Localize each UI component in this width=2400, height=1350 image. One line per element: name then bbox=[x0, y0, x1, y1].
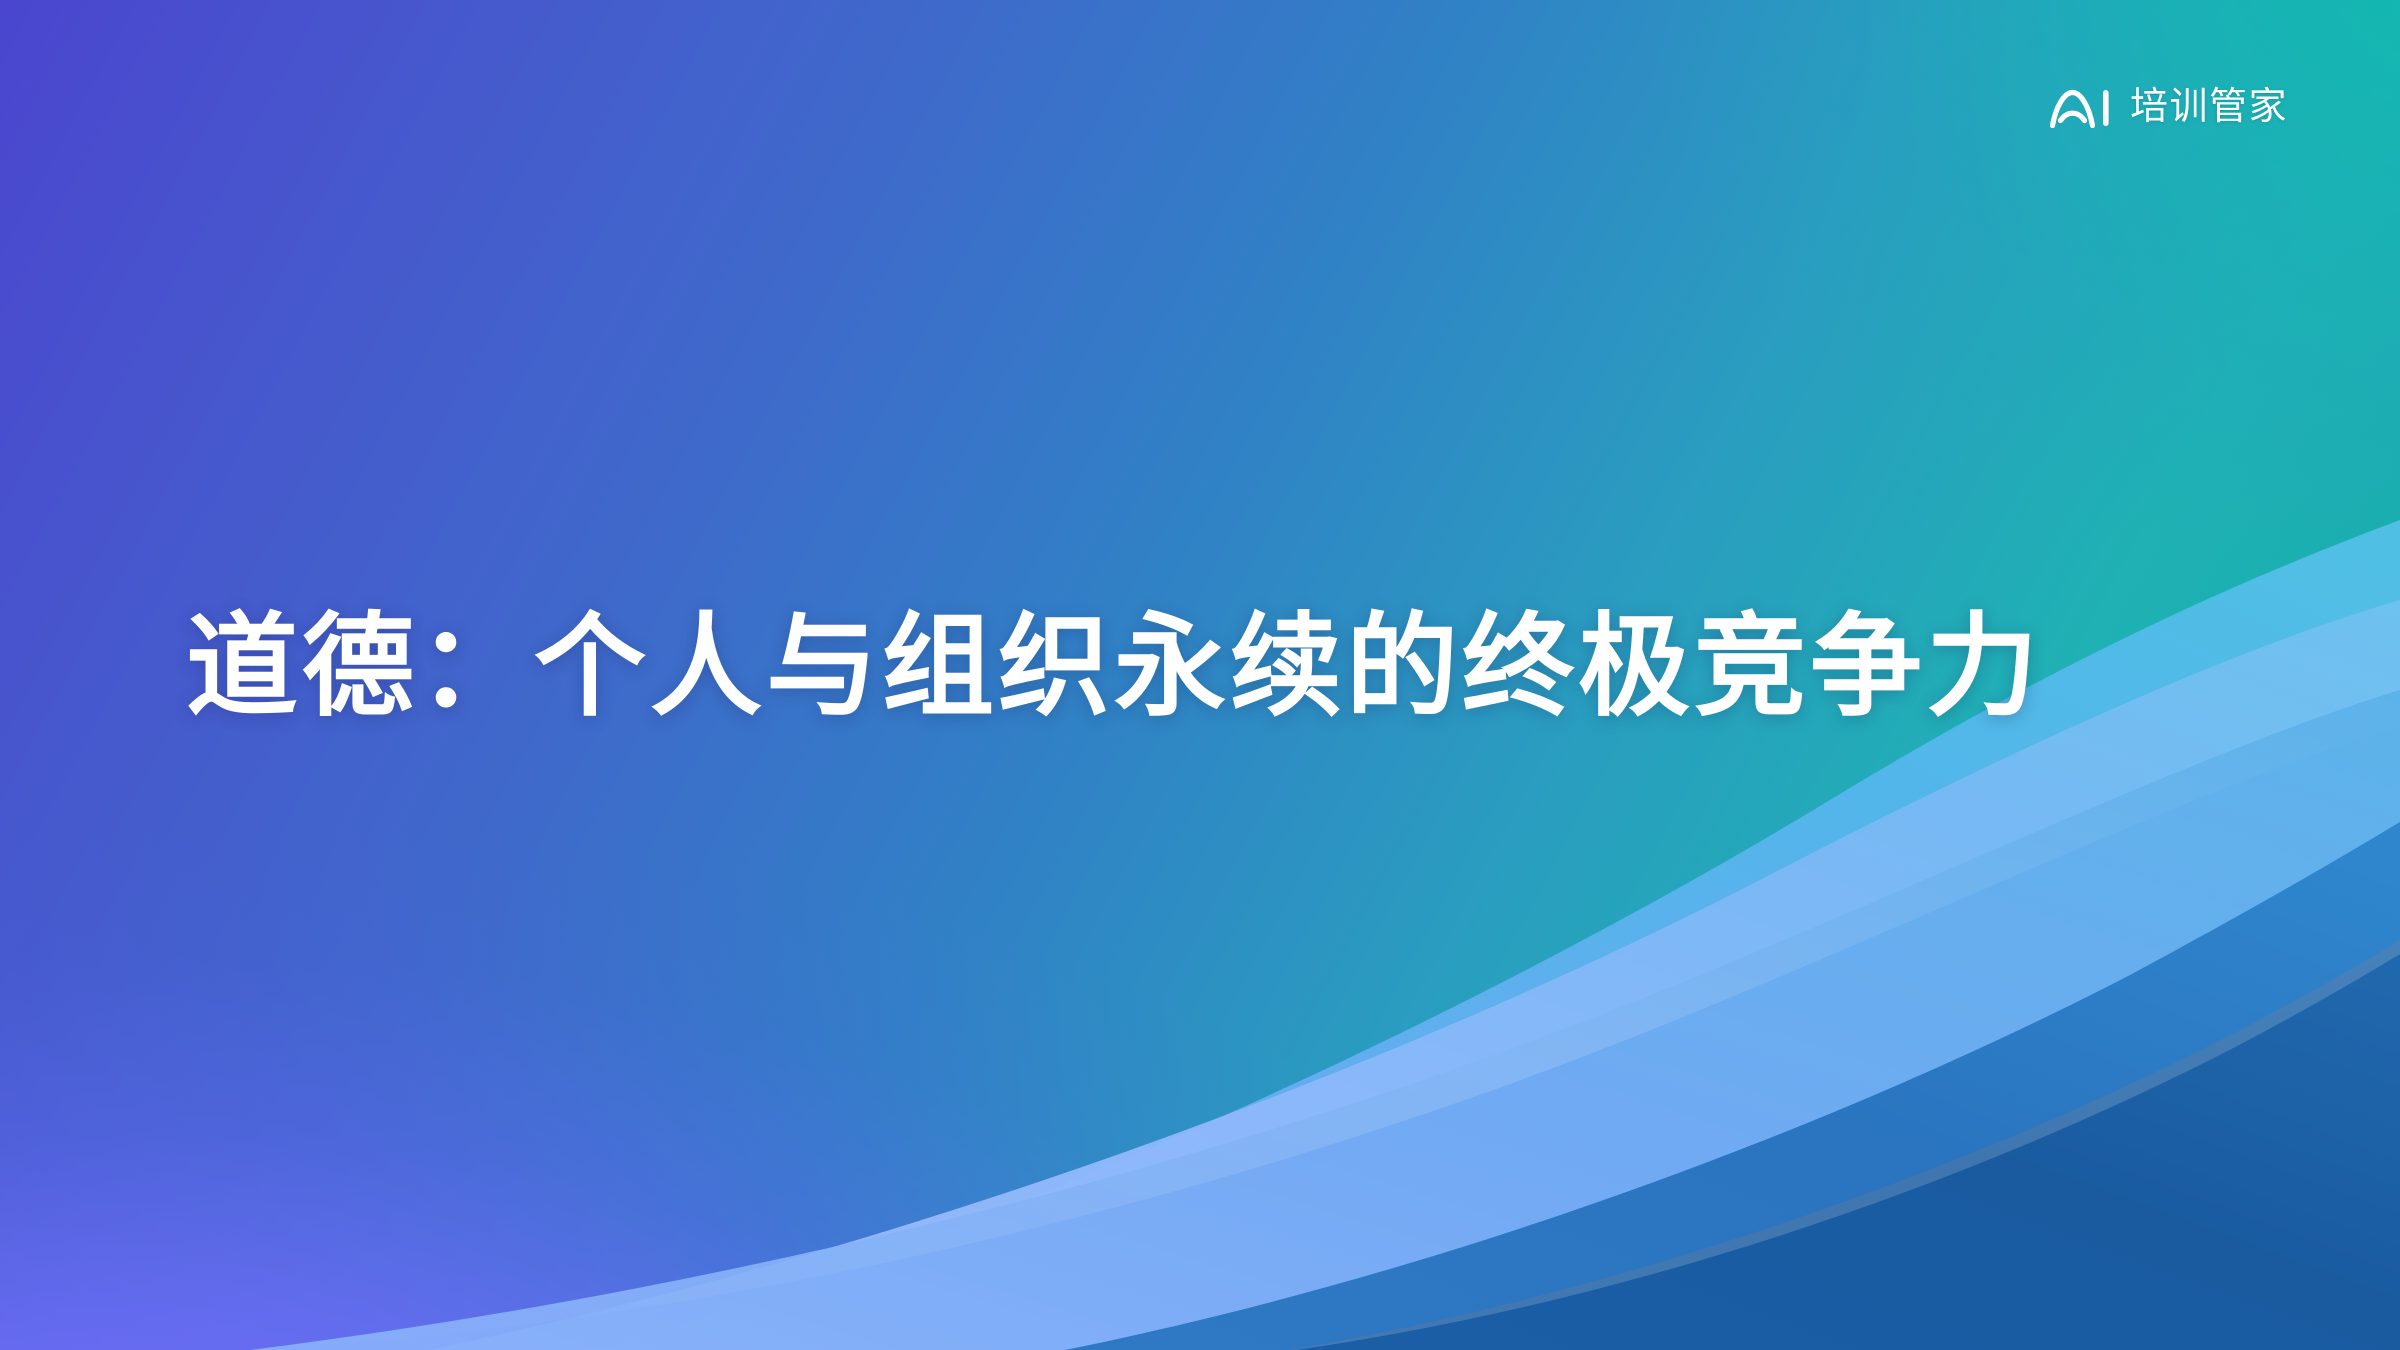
brand-name-label: 培训管家 bbox=[2130, 88, 2288, 126]
headline-container: 道德：个人与组织永续的终极竞争力 bbox=[186, 0, 2042, 1350]
slide-title: 道德：个人与组织永续的终极竞争力 bbox=[186, 601, 2042, 733]
title-slide: 培训管家 道德：个人与组织永续的终极竞争力 bbox=[0, 0, 2400, 1350]
ai-logo-icon bbox=[2047, 84, 2117, 130]
brand-logo: 培训管家 bbox=[2047, 84, 2288, 130]
